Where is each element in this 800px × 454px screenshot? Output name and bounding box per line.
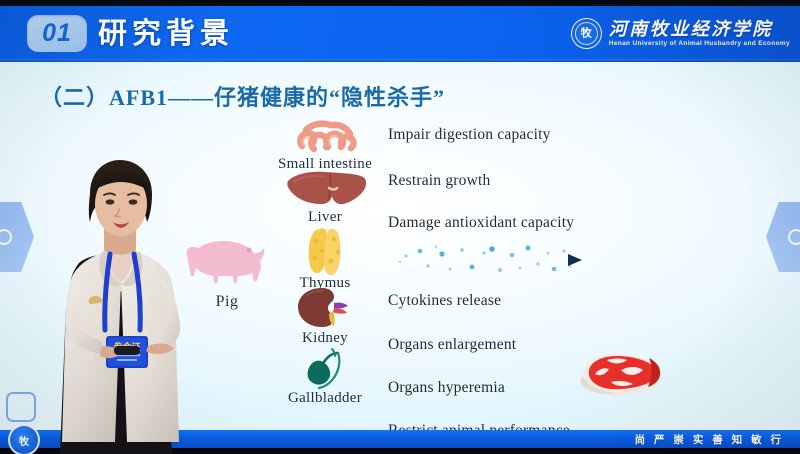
section-number-badge: 01 bbox=[27, 15, 87, 52]
small-intestine-icon bbox=[290, 116, 360, 156]
organ-label: Liver bbox=[262, 209, 388, 226]
effect-item: Damage antioxidant capacity bbox=[388, 214, 574, 232]
process-arrow-icon bbox=[392, 242, 592, 282]
effect-item: Impair digestion capacity bbox=[388, 126, 551, 144]
university-seal-icon: 牧 bbox=[571, 18, 602, 49]
slide-subtitle: （二）AFB1——仔猪健康的“隐性杀手” bbox=[40, 80, 445, 112]
organ-item-kidney: Kidney bbox=[262, 286, 388, 347]
effect-item: Organs hyperemia bbox=[388, 379, 505, 397]
university-logo: 牧 河南牧业经济学院 Henan University of Animal Hu… bbox=[571, 18, 790, 49]
effect-item: Restrict animal performance bbox=[388, 422, 570, 430]
watermark-seal-mark: 牧 bbox=[19, 433, 29, 448]
seal-mark-text: 牧 bbox=[581, 29, 592, 40]
section-number-text: 01 bbox=[42, 19, 72, 48]
watermark-seal-icon: 牧 bbox=[8, 424, 40, 454]
organ-item-gallbladder: Gallbladder bbox=[262, 346, 388, 407]
thymus-icon bbox=[296, 227, 354, 275]
presenter-person: 参会证 bbox=[18, 150, 224, 454]
organ-item-liver: Liver bbox=[262, 169, 388, 226]
effect-item: Cytokines release bbox=[388, 292, 501, 310]
university-name-en: Henan University of Animal Husbandry and… bbox=[609, 40, 790, 48]
meat-cut-icon bbox=[573, 342, 669, 406]
footer-motto: 尚 严 崇 实 善 知 敏 行 bbox=[635, 430, 784, 448]
gallbladder-icon bbox=[294, 346, 356, 390]
organ-item-small-intestine: Small intestine bbox=[262, 116, 388, 173]
liver-icon bbox=[283, 169, 367, 209]
presenter-clicker bbox=[114, 346, 140, 355]
university-name-cn: 河南牧业经济学院 bbox=[609, 19, 790, 39]
effect-item: Restrain growth bbox=[388, 172, 490, 190]
university-name-block: 河南牧业经济学院 Henan University of Animal Husb… bbox=[609, 19, 790, 48]
kidney-icon bbox=[292, 286, 358, 330]
organ-item-thymus: Thymus bbox=[262, 227, 388, 292]
effect-item: Organs enlargement bbox=[388, 336, 516, 354]
organ-label: Kidney bbox=[262, 330, 388, 347]
organ-label: Gallbladder bbox=[262, 390, 388, 407]
page-title: 研究背景 bbox=[98, 14, 234, 54]
presentation-screenshot: 01 研究背景 牧 河南牧业经济学院 Henan University of A… bbox=[0, 0, 800, 454]
slide-header-band: 01 研究背景 牧 河南牧业经济学院 Henan University of A… bbox=[0, 6, 800, 62]
